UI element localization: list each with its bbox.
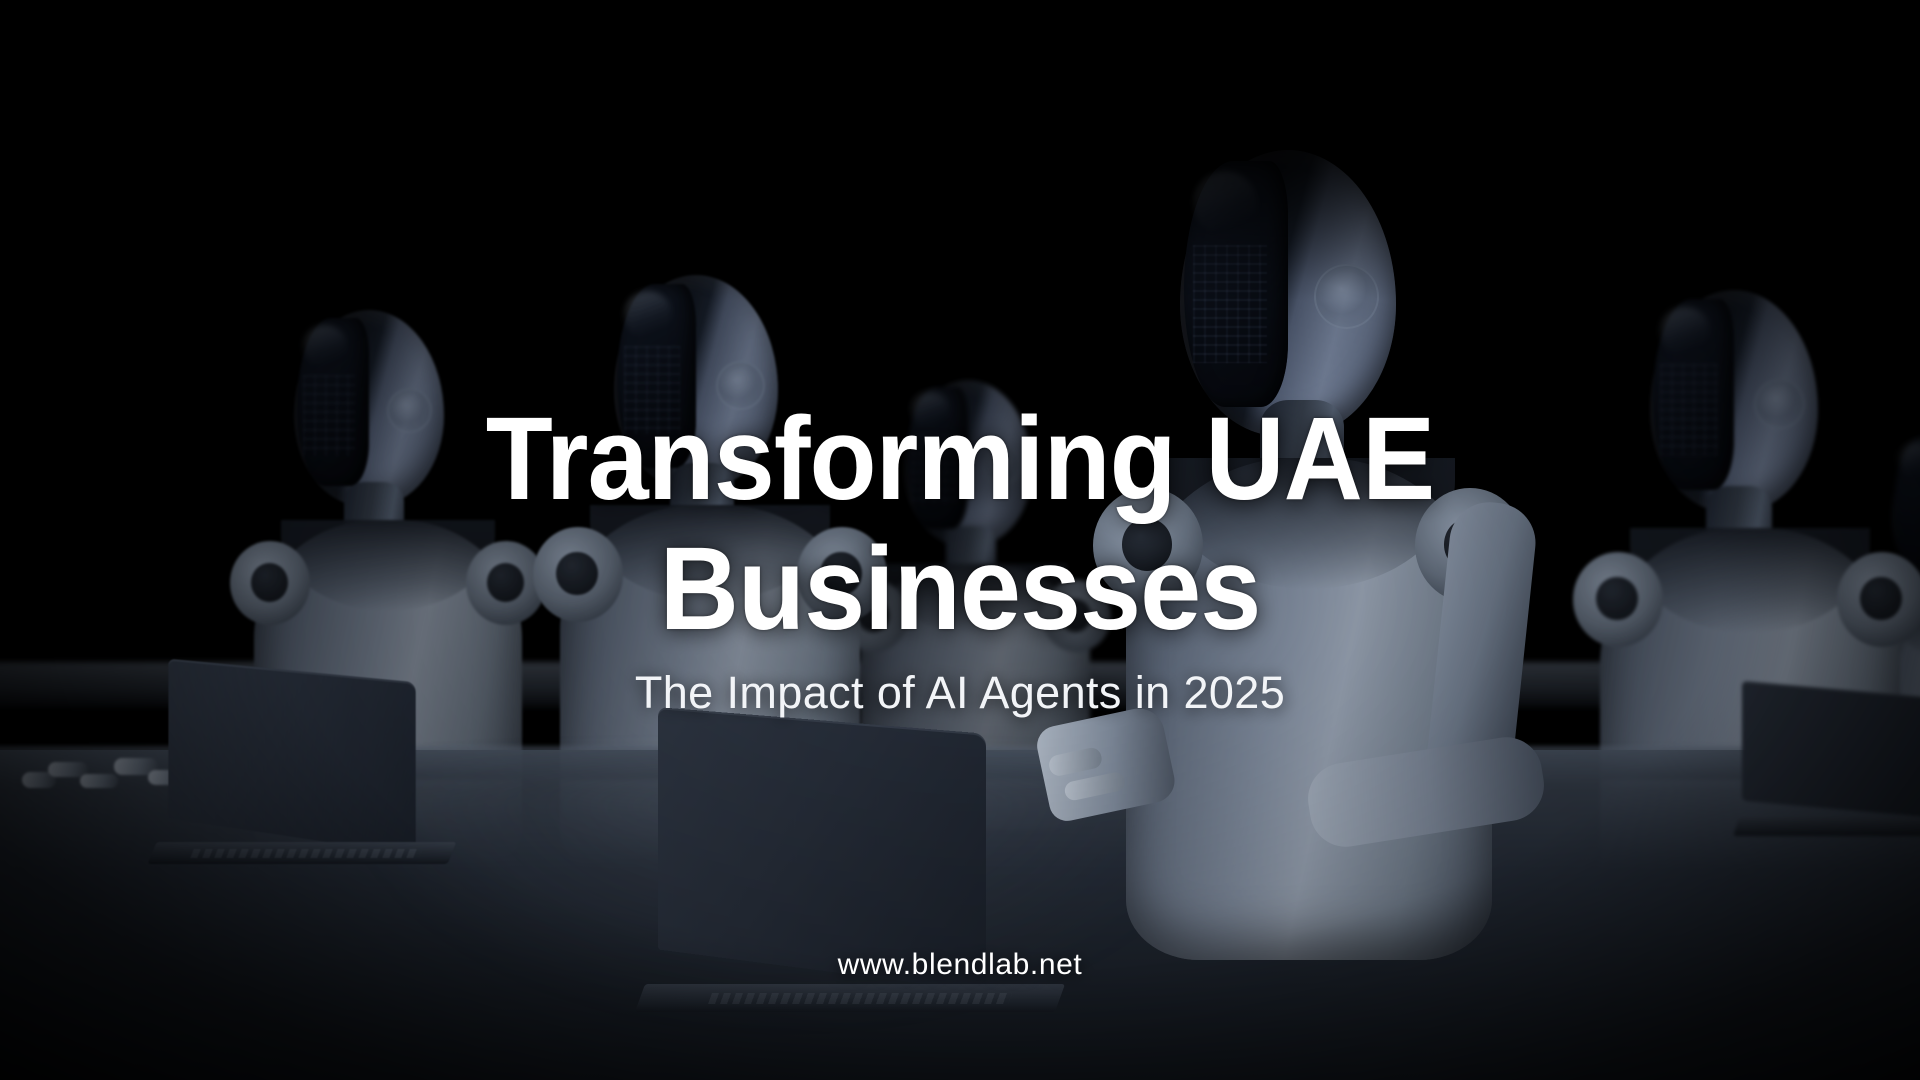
text-overlay: Transforming UAE Businesses The Impact o…	[0, 0, 1920, 1080]
page-subtitle: The Impact of AI Agents in 2025	[0, 667, 1920, 719]
title-card: Transforming UAE Businesses The Impact o…	[0, 0, 1920, 1080]
page-title: Transforming UAE Businesses	[67, 395, 1853, 655]
website-url: www.blendlab.net	[0, 948, 1920, 982]
